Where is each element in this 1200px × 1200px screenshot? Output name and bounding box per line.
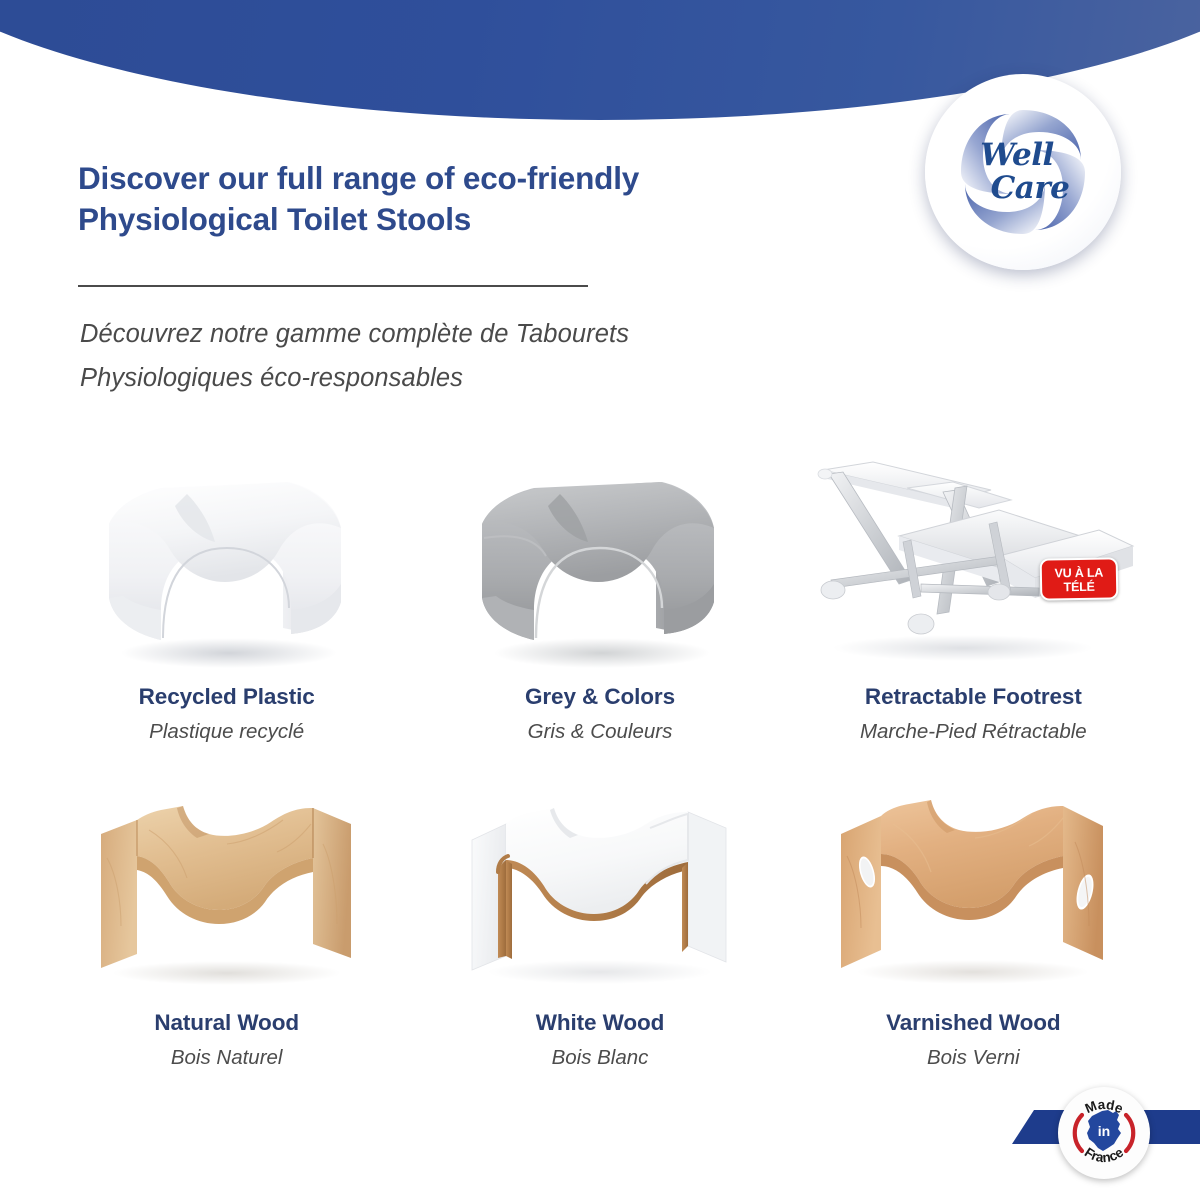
product-image-recycled-plastic (40, 432, 413, 676)
product-label-fr: Plastique recyclé (40, 720, 413, 744)
product-card-varnished-wood[interactable]: Varnished Wood Bois Verni (787, 768, 1160, 1104)
product-label-en: Natural Wood (40, 1010, 413, 1036)
grey-plastic-stool-icon (450, 432, 750, 676)
varnished-wood-stool-icon (823, 768, 1123, 990)
product-label-fr: Bois Naturel (40, 1046, 413, 1070)
page-title-line1: Discover our full range of eco-friendly (78, 158, 858, 199)
product-image-natural-wood (40, 768, 413, 990)
tv-badge: VU À LA TÉLÉ (1039, 557, 1118, 600)
natural-wood-stool-icon (77, 768, 377, 990)
product-label-fr: Bois Verni (787, 1046, 1160, 1070)
brand-logo-text: Well Care (958, 140, 1088, 204)
brand-logo-line1: Well (946, 140, 1088, 171)
made-in-france-icon: in Made France (1058, 1087, 1150, 1179)
product-card-grey-colors[interactable]: Grey & Colors Gris & Couleurs (413, 432, 786, 768)
page-subtitle-line2: Physiologiques éco-responsables (80, 357, 870, 401)
title-divider (78, 285, 588, 287)
page-title: Discover our full range of eco-friendly … (78, 158, 858, 240)
product-label-en: Recycled Plastic (40, 684, 413, 710)
product-label-fr: Bois Blanc (413, 1046, 786, 1070)
brand-logo-line2: Care (972, 173, 1088, 204)
product-label-fr: Marche-Pied Rétractable (787, 720, 1160, 744)
brand-logo-mark: Well Care (948, 97, 1098, 247)
product-card-retractable-footrest[interactable]: VU À LA TÉLÉ Retractable Footrest Marche… (787, 432, 1160, 768)
white-wood-stool-icon (450, 768, 750, 990)
brand-logo[interactable]: Well Care (925, 74, 1121, 270)
product-label-fr: Gris & Couleurs (413, 720, 786, 744)
product-grid: Recycled Plastic Plastique recyclé (40, 432, 1160, 1112)
product-card-white-wood[interactable]: White Wood Bois Blanc (413, 768, 786, 1104)
product-card-recycled-plastic[interactable]: Recycled Plastic Plastique recyclé (40, 432, 413, 768)
tv-badge-line1: VU À LA (1041, 565, 1115, 580)
poster-canvas: Well Care Discover our full range of eco… (0, 0, 1200, 1200)
product-image-white-wood (413, 768, 786, 990)
product-label-en: Varnished Wood (787, 1010, 1160, 1036)
product-label-en: White Wood (413, 1010, 786, 1036)
product-label-en: Grey & Colors (413, 684, 786, 710)
white-plastic-stool-icon (77, 432, 377, 676)
product-image-varnished-wood (787, 768, 1160, 990)
product-image-retractable-footrest (787, 432, 1160, 676)
retractable-footrest-icon (803, 432, 1143, 676)
made-in-france-badge: in Made France (1058, 1087, 1150, 1179)
page-subtitle: Découvrez notre gamme complète de Tabour… (80, 313, 870, 401)
product-card-natural-wood[interactable]: Natural Wood Bois Naturel (40, 768, 413, 1104)
product-image-grey-colors (413, 432, 786, 676)
page-subtitle-line1: Découvrez notre gamme complète de Tabour… (80, 313, 870, 357)
made-in-france-line2: in (1098, 1123, 1110, 1139)
page-title-line2: Physiological Toilet Stools (78, 199, 858, 240)
tv-badge-line2: TÉLÉ (1042, 579, 1116, 594)
product-label-en: Retractable Footrest (787, 684, 1160, 710)
